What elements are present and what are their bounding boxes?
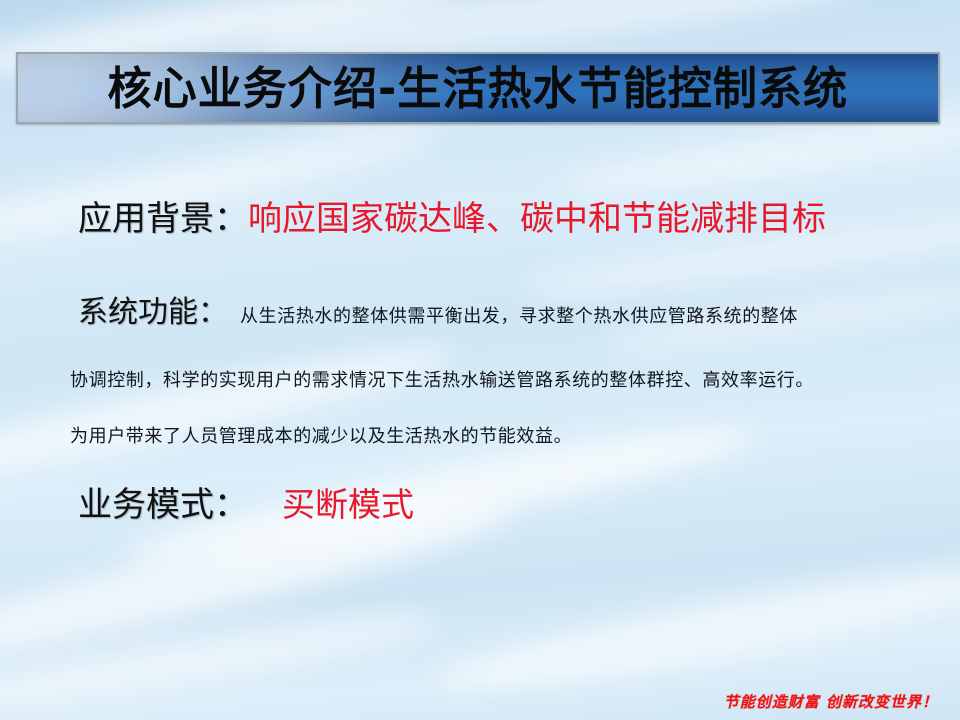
- application-background-value: 响应国家碳达峰、碳中和节能减排目标: [248, 202, 826, 236]
- business-mode-label: 业务模式：: [78, 488, 248, 522]
- section-system-function: 系统功能： 从生活热水的整体供需平衡出发，寻求整个热水供应管路系统的整体: [78, 298, 798, 328]
- slide-canvas: 核心业务介绍-生活热水节能控制系统 应用背景： 响应国家碳达峰、碳中和节能减排目…: [0, 0, 960, 720]
- system-function-line-3: 为用户带来了人员管理成本的减少以及生活热水的节能效益。: [70, 428, 572, 446]
- slide-content: 应用背景： 响应国家碳达峰、碳中和节能减排目标 系统功能： 从生活热水的整体供需…: [0, 0, 960, 720]
- system-function-line-2: 协调控制，科学的实现用户的需求情况下生活热水输送管路系统的整体群控、高效率运行。: [70, 372, 814, 390]
- application-background-label: 应用背景：: [78, 202, 248, 236]
- section-application-background: 应用背景： 响应国家碳达峰、碳中和节能减排目标: [78, 202, 826, 236]
- section-business-mode: 业务模式： 买断模式: [78, 488, 414, 522]
- footer-slogan: 节能创造财富 创新改变世界！: [724, 691, 938, 712]
- system-function-line-1: 从生活热水的整体供需平衡出发，寻求整个热水供应管路系统的整体: [228, 308, 798, 326]
- business-mode-value: 买断模式: [248, 488, 414, 521]
- system-function-label: 系统功能：: [78, 298, 228, 328]
